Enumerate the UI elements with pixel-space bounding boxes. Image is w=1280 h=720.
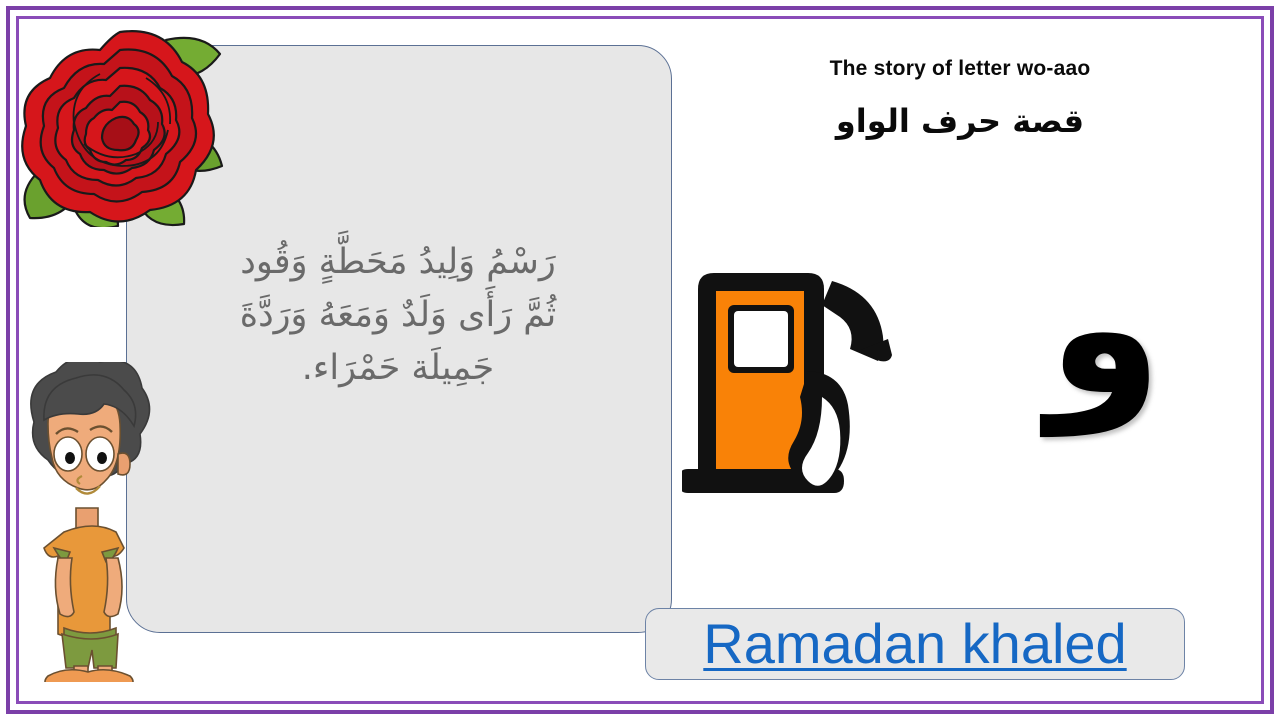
letter-waw-display: و: [1000, 236, 1210, 421]
title-english: The story of letter wo-aao: [700, 57, 1220, 81]
cartoon-boy-icon: [18, 362, 168, 682]
author-name-text[interactable]: Ramadan khaled: [645, 612, 1185, 676]
story-text: رَسْمُ وَلِيدُ مَحَطَّةٍ وَقُود ثُمَّ رَ…: [140, 236, 656, 396]
red-rose-icon: [16, 22, 226, 227]
slide-canvas: رَسْمُ وَلِيدُ مَحَطَّةٍ وَقُود ثُمَّ رَ…: [0, 0, 1280, 720]
title-arabic: قصة حرف الواو: [700, 102, 1220, 140]
fuel-pump-icon: [682, 255, 920, 505]
